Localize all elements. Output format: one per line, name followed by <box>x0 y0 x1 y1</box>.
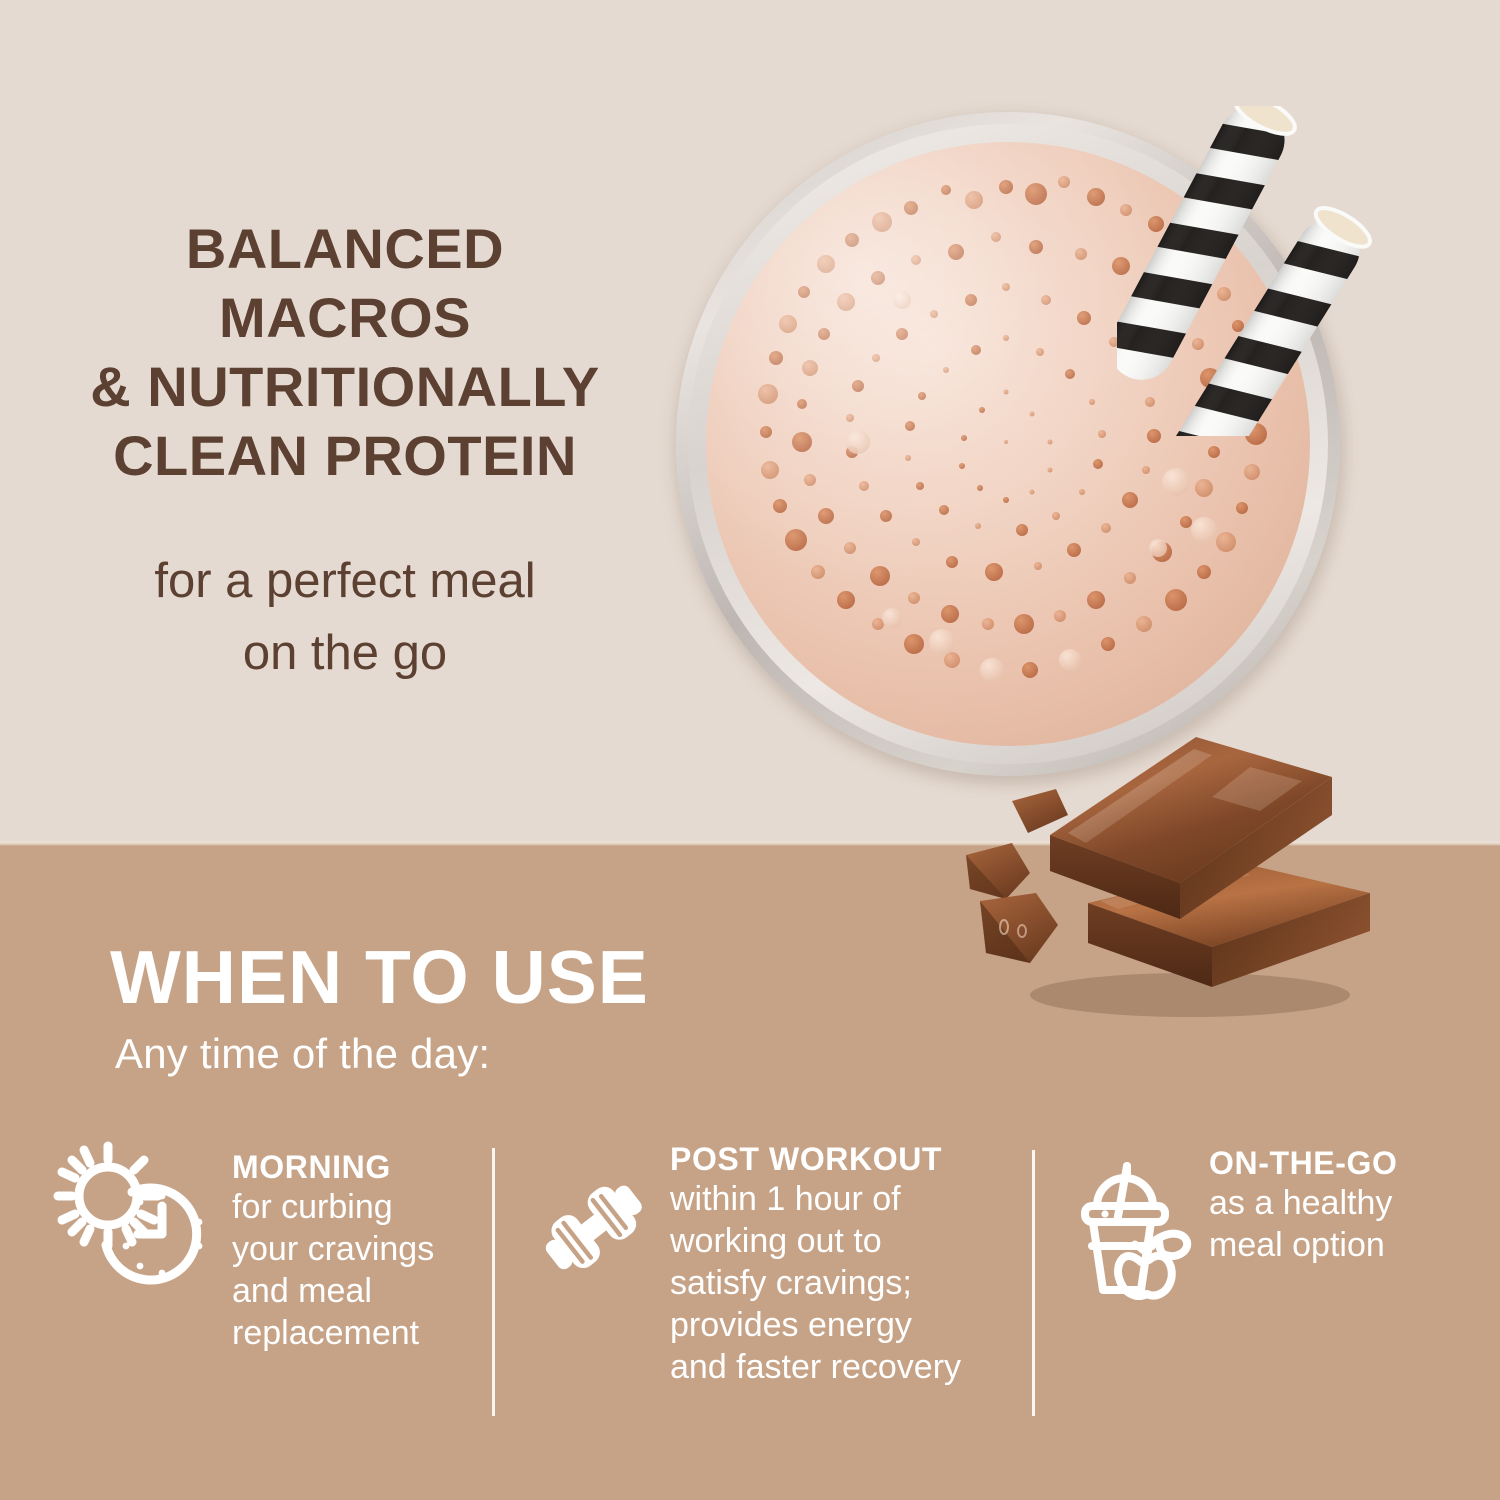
subheadline-line-2: on the go <box>0 617 690 689</box>
usage-heading-morning: MORNING <box>232 1148 434 1186</box>
workout-line-1: within 1 hour of <box>670 1178 961 1220</box>
usage-body-morning: for curbing your cravings and meal repla… <box>232 1186 434 1354</box>
morning-line-1: for curbing <box>232 1186 434 1228</box>
chocolate-chunk-lower <box>980 893 1058 963</box>
usage-body-post-workout: within 1 hour of working out to satisfy … <box>670 1178 961 1388</box>
dumbbell-icon <box>528 1168 658 1293</box>
when-to-use-subtitle: Any time of the day: <box>115 1030 490 1078</box>
usage-heading-on-the-go: ON-THE-GO <box>1209 1144 1398 1182</box>
when-to-use-title: WHEN TO USE <box>110 934 649 1020</box>
usage-column-morning: MORNING for curbing your cravings and me… <box>46 1140 466 1354</box>
onthego-line-1: as a healthy <box>1209 1182 1398 1224</box>
usage-text-morning: MORNING for curbing your cravings and me… <box>232 1148 434 1354</box>
morning-line-2: your cravings <box>232 1228 434 1270</box>
infographic-canvas: BALANCED MACROS & NUTRITIONALLY CLEAN PR… <box>0 0 1500 1500</box>
usage-text-on-the-go: ON-THE-GO as a healthy meal option <box>1209 1144 1398 1266</box>
usage-heading-post-workout: POST WORKOUT <box>670 1140 961 1178</box>
sun-clock-icon <box>46 1140 218 1295</box>
morning-line-4: replacement <box>232 1312 434 1354</box>
headline-line-1: BALANCED <box>0 214 690 283</box>
hero-subheadline: for a perfect meal on the go <box>0 545 690 689</box>
chocolate-shard <box>1012 789 1068 833</box>
workout-line-4: provides energy <box>670 1304 961 1346</box>
workout-line-5: and faster recovery <box>670 1346 961 1388</box>
straws-icon <box>1117 106 1377 436</box>
usage-body-on-the-go: as a healthy meal option <box>1209 1182 1398 1266</box>
usage-text-post-workout: POST WORKOUT within 1 hour of working ou… <box>670 1140 961 1388</box>
chocolate-pieces-image <box>950 715 1390 1025</box>
onthego-line-2: meal option <box>1209 1224 1398 1266</box>
headline-line-2: MACROS <box>0 283 690 352</box>
smoothie-photo <box>662 96 1362 796</box>
headline-line-4: CLEAN PROTEIN <box>0 421 690 490</box>
chocolate-chunk-upper <box>966 843 1030 899</box>
morning-line-3: and meal <box>232 1270 434 1312</box>
workout-line-2: working out to <box>670 1220 961 1262</box>
subheadline-line-1: for a perfect meal <box>0 545 690 617</box>
hero-headline: BALANCED MACROS & NUTRITIONALLY CLEAN PR… <box>0 214 690 490</box>
usage-columns: MORNING for curbing your cravings and me… <box>0 1140 1500 1440</box>
cup-apple-icon <box>1063 1150 1195 1305</box>
workout-line-3: satisfy cravings; <box>670 1262 961 1304</box>
headline-line-3: & NUTRITIONALLY <box>0 352 690 421</box>
usage-column-post-workout: POST WORKOUT within 1 hour of working ou… <box>528 1140 988 1388</box>
usage-column-on-the-go: ON-THE-GO as a healthy meal option <box>1063 1140 1463 1305</box>
